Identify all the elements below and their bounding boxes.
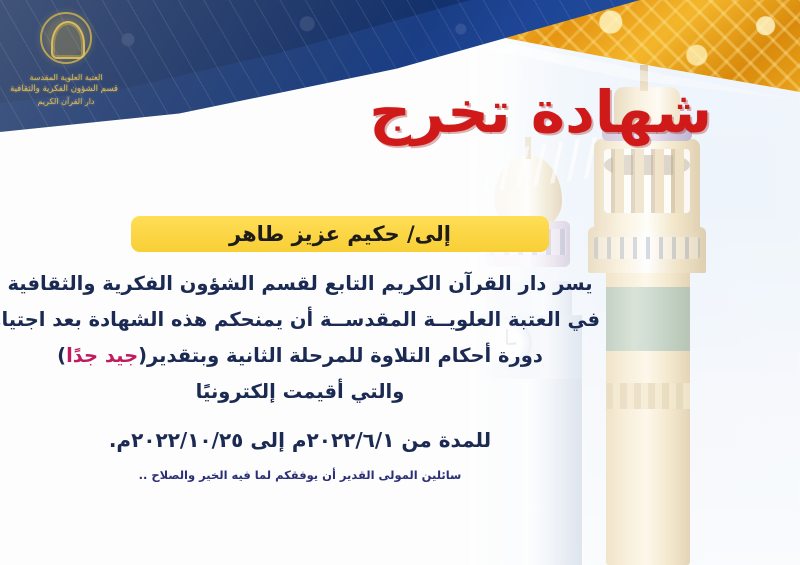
grade-value: جيد جدًا (66, 344, 138, 367)
emblem-line-1: العتبة العلوية المقدسة (14, 72, 118, 83)
recipient-name-text: إلى/ حكيم عزيز طاهر (229, 222, 451, 246)
emblem-line-3: دار القرآن الكريم (14, 96, 118, 107)
body-line-3-prefix: دورة أحكام التلاوة للمرحلة الثانية وبتقد… (138, 344, 543, 367)
body-line-1: يسر دار القرآن الكريم التابع لقسم الشؤون… (0, 266, 600, 302)
emblem-seal-icon (34, 6, 98, 70)
body-line-3: دورة أحكام التلاوة للمرحلة الثانية وبتقد… (0, 338, 600, 374)
certificate-title: شهادة تخرج (369, 78, 712, 146)
certificate-page: العتبة العلوية المقدسة قسم الشؤون الفكري… (0, 0, 800, 565)
body-line-2: في العتبة العلويــة المقدســة أن يمنحكم … (0, 302, 600, 338)
emblem-line-2: قسم الشؤون الفكرية والثقافية (14, 84, 118, 95)
body-line-3-suffix: ) (57, 344, 66, 367)
body-line-4: والتي أقيمت إلكترونيًا (0, 374, 600, 410)
course-duration: للمدة من ٢٠٢٢/٦/١م إلى ٢٠٢٢/١٠/٢٥م. (0, 428, 600, 452)
closing-prayer: سائلين المولى القدير أن يوفقكم لما فيه ا… (0, 468, 600, 482)
recipient-name-banner: إلى/ حكيم عزيز طاهر (131, 216, 549, 252)
certificate-body: يسر دار القرآن الكريم التابع لقسم الشؤون… (0, 266, 600, 482)
organization-emblem: العتبة العلوية المقدسة قسم الشؤون الفكري… (14, 6, 118, 106)
